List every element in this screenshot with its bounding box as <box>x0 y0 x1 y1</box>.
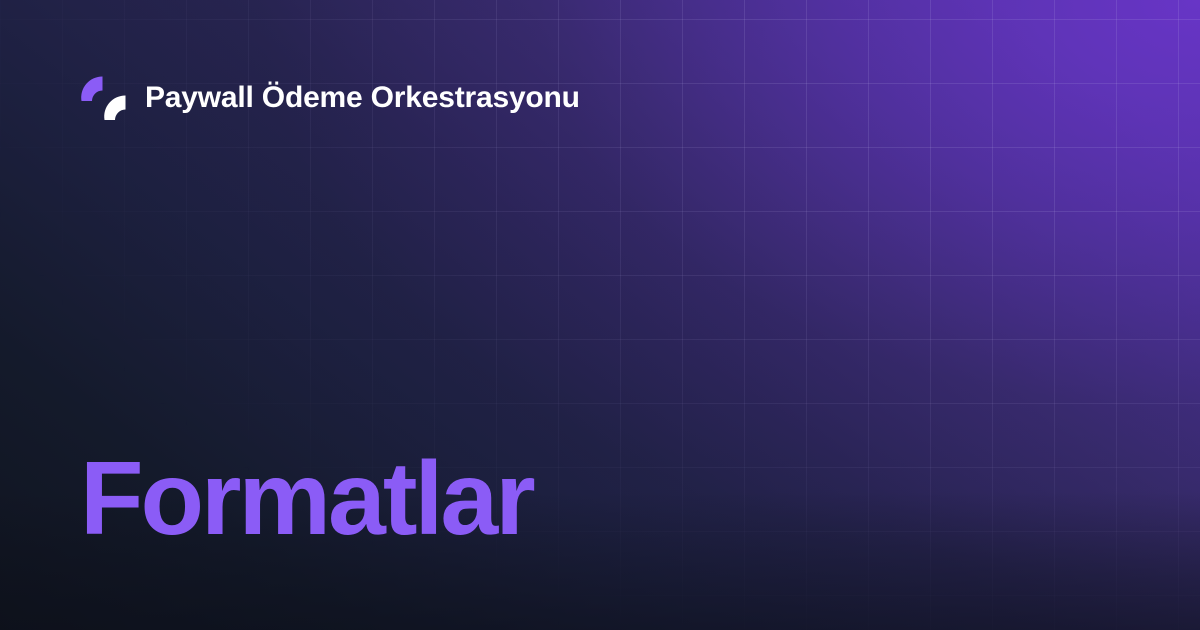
page-title: Formatlar <box>80 447 533 551</box>
og-card: Paywall Ödeme Orkestrasyonu Formatlar <box>0 0 1200 630</box>
card-content: Paywall Ödeme Orkestrasyonu Formatlar <box>0 0 1200 630</box>
brand-name: Paywall Ödeme Orkestrasyonu <box>145 83 580 113</box>
brand-lockup: Paywall Ödeme Orkestrasyonu <box>80 74 580 122</box>
paywall-swoosh-logo-icon <box>80 74 128 122</box>
